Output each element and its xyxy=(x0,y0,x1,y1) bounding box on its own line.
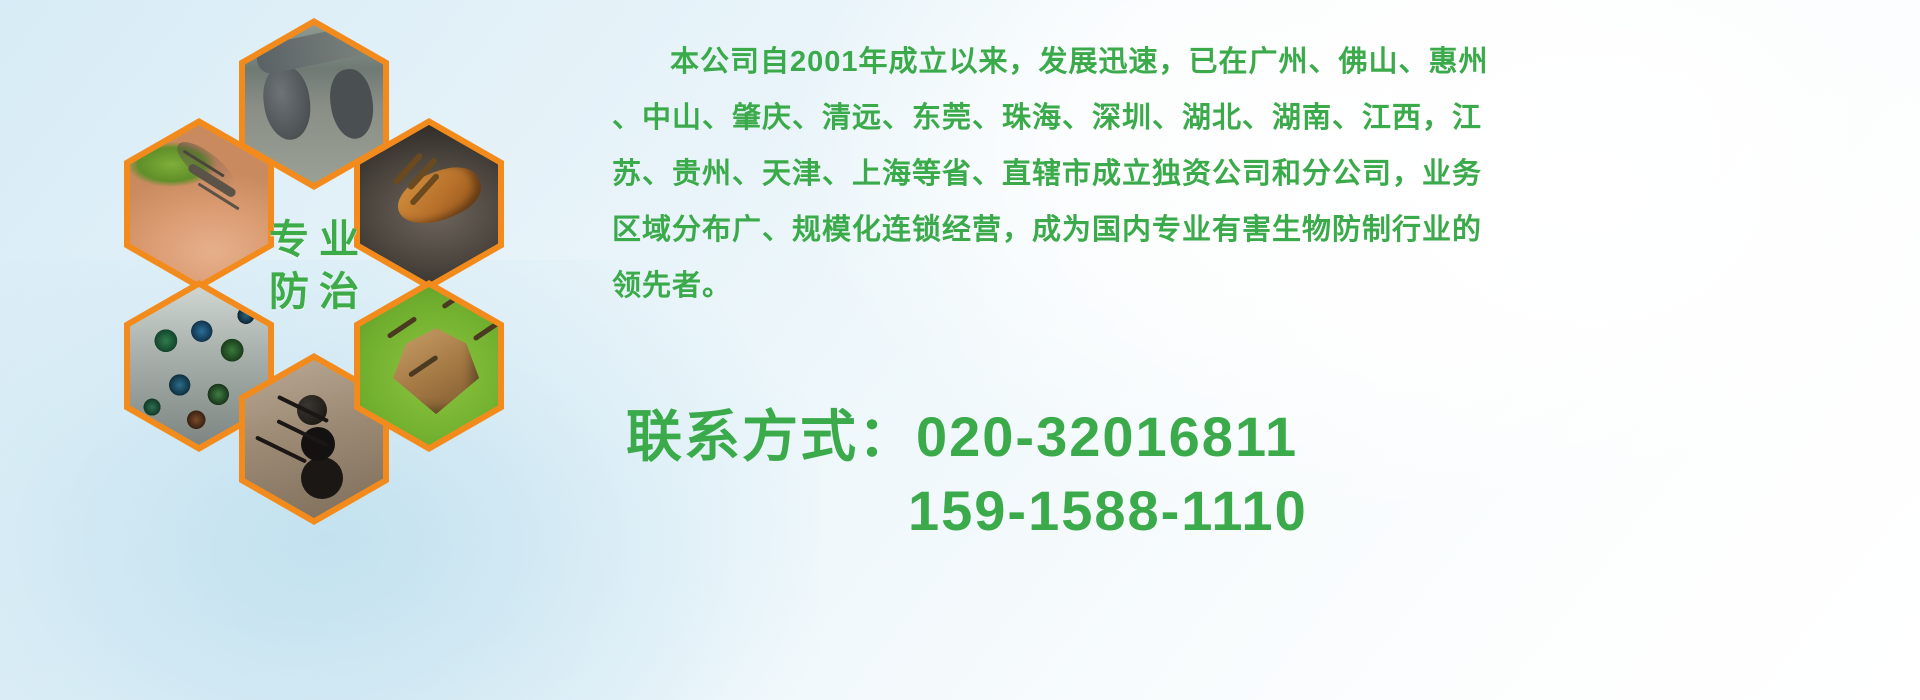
slogan-hex: 专业 防治 xyxy=(239,180,389,352)
paragraph-line-3: 苏、贵州、天津、上海等省、直辖市成立独资公司和分公司，业务 xyxy=(612,146,1884,202)
paragraph-line-5: 领先者。 xyxy=(612,258,1884,314)
slogan-line-2: 防治 xyxy=(259,266,369,318)
paragraph-line-2: 、中山、肇庆、清远、东莞、珠海、深圳、湖北、湖南、江西，江 xyxy=(612,90,1884,146)
paragraph-line-4: 区域分布广、规模化连锁经营，成为国内专业有害生物防制行业的 xyxy=(612,202,1884,258)
paragraph-line-1: 本公司自2001年成立以来，发展迅速，已在广州、佛山、惠州 xyxy=(612,34,1884,90)
slogan-line-1: 专业 xyxy=(259,214,369,266)
contact-phone-landline[interactable]: 联系方式：020-32016811 xyxy=(626,400,1906,474)
promo-banner: 专业 防治 本公司自2001年成立以来，发展迅速，已在广州、佛山、惠州 、中山、… xyxy=(0,0,1920,700)
hexagon-image-cluster: 专业 防治 xyxy=(88,8,588,568)
company-description: 本公司自2001年成立以来，发展迅速，已在广州、佛山、惠州 、中山、肇庆、清远、… xyxy=(612,34,1884,314)
paragraph-block: 本公司自2001年成立以来，发展迅速，已在广州、佛山、惠州 、中山、肇庆、清远、… xyxy=(612,34,1884,314)
contact-phone-mobile[interactable]: 159-1588-1110 xyxy=(626,474,1906,548)
contact-block: 联系方式：020-32016811 159-1588-1110 xyxy=(626,400,1906,548)
